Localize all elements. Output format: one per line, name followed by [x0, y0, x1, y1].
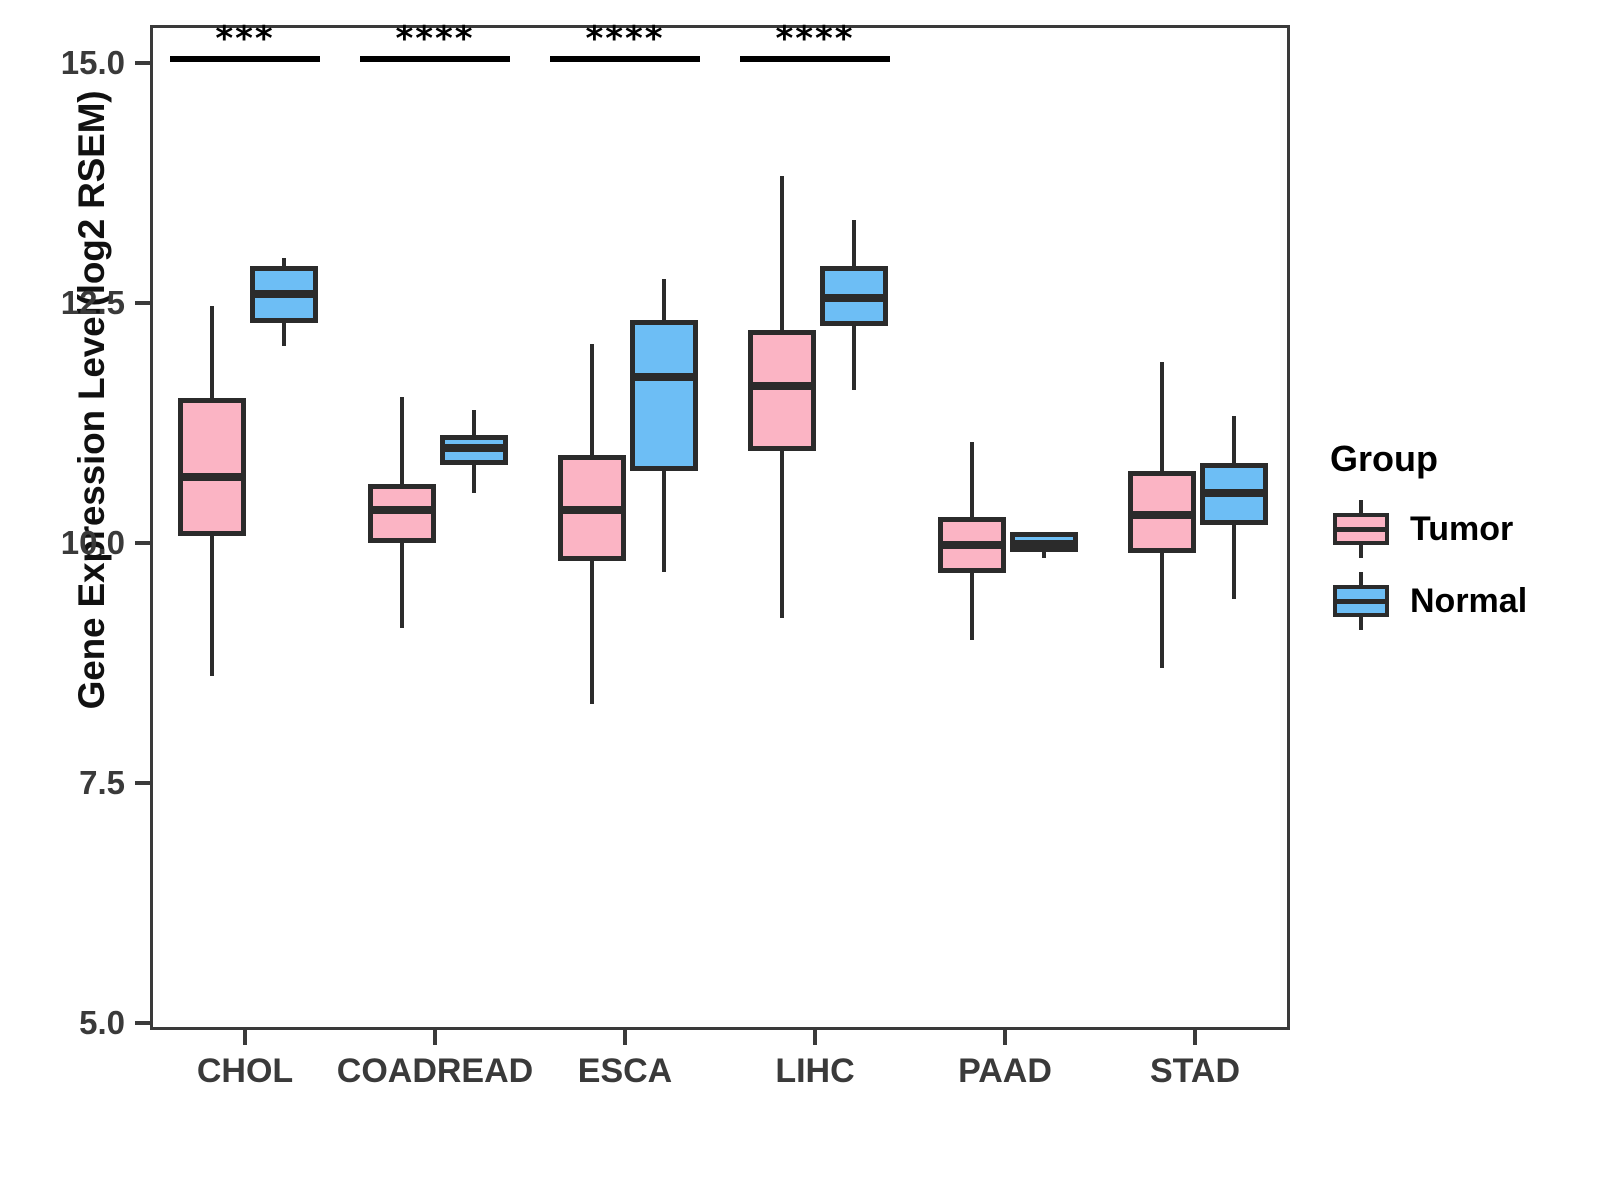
- y-axis-tick-label: 15.0: [5, 44, 125, 82]
- y-axis-tick-mark: [135, 781, 150, 785]
- x-axis-tick-mark: [623, 1030, 627, 1045]
- legend-swatch-normal: [1330, 572, 1392, 630]
- boxplot-median-line: [368, 506, 436, 514]
- legend-title: Group: [1330, 438, 1590, 480]
- significance-stars: ****: [550, 24, 700, 54]
- significance-bracket-coadread: ****: [360, 24, 510, 62]
- significance-bracket-chol: ***: [170, 24, 320, 62]
- boxplot-coadread-tumor: [368, 28, 436, 1033]
- y-axis-tick-mark: [135, 541, 150, 545]
- y-axis-tick-mark: [135, 61, 150, 65]
- boxplot-median-line: [938, 541, 1006, 549]
- x-axis-tick-label-chol: CHOL: [197, 1052, 293, 1091]
- boxplot-stad-normal: [1200, 28, 1268, 1033]
- boxplot-paad-normal: [1010, 28, 1078, 1033]
- boxplot-median-line: [558, 506, 626, 514]
- y-axis-tick-label: 5.0: [5, 1004, 125, 1042]
- legend-item-tumor[interactable]: Tumor: [1330, 500, 1590, 558]
- boxplot-lihc-tumor: [748, 28, 816, 1033]
- boxplot-box: [630, 320, 698, 471]
- significance-stars: ****: [360, 24, 510, 54]
- y-axis-tick-mark: [135, 301, 150, 305]
- y-axis-tick-mark: [135, 1021, 150, 1025]
- boxplot-paad-tumor: [938, 28, 1006, 1033]
- x-axis-tick-mark: [813, 1030, 817, 1045]
- boxplot-median-line: [1200, 489, 1268, 497]
- x-axis-tick-mark: [433, 1030, 437, 1045]
- significance-stars: ***: [170, 24, 320, 54]
- x-axis-tick-mark: [243, 1030, 247, 1045]
- y-axis-tick-label: 10.0: [5, 524, 125, 562]
- boxplot-esca-normal: [630, 28, 698, 1033]
- significance-bracket-lihc: ****: [740, 24, 890, 62]
- plot-area: [153, 28, 1287, 1027]
- x-axis-tick-mark: [1003, 1030, 1007, 1045]
- plot-panel: [150, 25, 1290, 1030]
- legend-items: TumorNormal: [1330, 500, 1590, 630]
- x-axis-tick-label-coadread: COADREAD: [337, 1052, 533, 1091]
- x-axis-tick-label-esca: ESCA: [578, 1052, 672, 1091]
- legend-label: Tumor: [1410, 510, 1513, 549]
- boxplot-chol-tumor: [178, 28, 246, 1033]
- significance-bracket-esca: ****: [550, 24, 700, 62]
- chart-figure: Gene Expression Level(log2 RSEM) 5.07.51…: [0, 0, 1600, 1200]
- boxplot-lihc-normal: [820, 28, 888, 1033]
- boxplot-median-line: [1010, 540, 1078, 548]
- boxplot-median-line: [178, 473, 246, 481]
- boxplot-median-line: [630, 373, 698, 381]
- legend-swatch-median: [1333, 527, 1389, 532]
- legend-swatch-median: [1333, 599, 1389, 604]
- boxplot-median-line: [1128, 511, 1196, 519]
- boxplot-esca-tumor: [558, 28, 626, 1033]
- legend-label: Normal: [1410, 582, 1527, 621]
- boxplot-box: [748, 330, 816, 451]
- legend-item-normal[interactable]: Normal: [1330, 572, 1590, 630]
- legend: Group TumorNormal: [1330, 438, 1590, 644]
- boxplot-median-line: [250, 290, 318, 298]
- boxplot-median-line: [748, 382, 816, 390]
- significance-stars: ****: [740, 24, 890, 54]
- x-axis-tick-mark: [1193, 1030, 1197, 1045]
- boxplot-median-line: [440, 444, 508, 452]
- boxplot-coadread-normal: [440, 28, 508, 1033]
- boxplot-chol-normal: [250, 28, 318, 1033]
- x-axis-tick-label-stad: STAD: [1150, 1052, 1240, 1091]
- y-axis-tick-label: 12.5: [5, 284, 125, 322]
- boxplot-stad-tumor: [1128, 28, 1196, 1033]
- legend-swatch-tumor: [1330, 500, 1392, 558]
- boxplot-median-line: [820, 294, 888, 302]
- x-axis-tick-label-lihc: LIHC: [775, 1052, 854, 1091]
- boxplot-box: [178, 398, 246, 536]
- x-axis-tick-label-paad: PAAD: [958, 1052, 1052, 1091]
- y-axis-tick-label: 7.5: [5, 764, 125, 802]
